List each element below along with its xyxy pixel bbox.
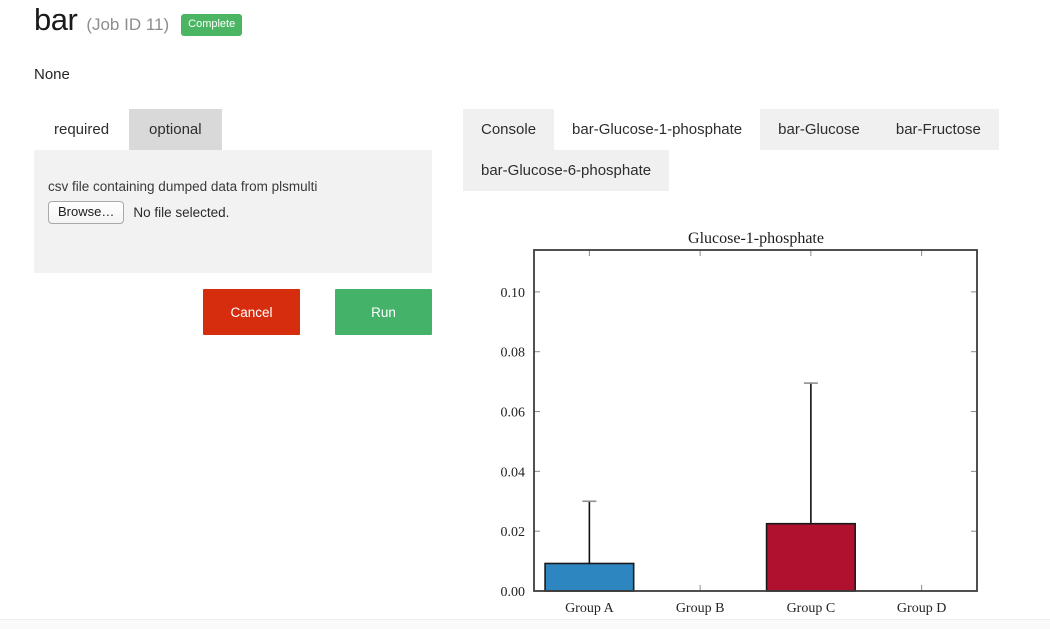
y-axis-tick-label: 0.10 <box>501 286 526 301</box>
job-description: None <box>34 66 70 83</box>
chart-bar <box>545 563 634 591</box>
results-tab-bar: Console bar-Glucose-1-phosphate bar-Gluc… <box>463 109 1040 191</box>
tab-bar-fructose[interactable]: bar-Fructose <box>878 109 999 150</box>
form-tab-bar: required optional <box>34 109 432 150</box>
tab-bar-glucose-6-phosphate[interactable]: bar-Glucose-6-phosphate <box>463 150 669 191</box>
file-input-help-text: csv file containing dumped data from pls… <box>48 179 432 194</box>
y-axis-tick-label: 0.08 <box>501 346 526 361</box>
tab-optional[interactable]: optional <box>129 109 222 150</box>
action-button-row: Cancel Run <box>34 289 432 335</box>
tab-bar-glucose-1-phosphate[interactable]: bar-Glucose-1-phosphate <box>554 109 760 150</box>
chart-frame <box>534 250 977 591</box>
y-axis-tick-label: 0.02 <box>501 525 526 540</box>
chart-bar <box>767 524 856 591</box>
job-id-label: (Job ID 11) <box>86 16 169 33</box>
run-button[interactable]: Run <box>335 289 432 335</box>
x-axis-category-label: Group D <box>897 601 946 616</box>
page-header: bar (Job ID 11) Complete <box>34 4 242 39</box>
job-parameters-panel: required optional csv file containing du… <box>34 109 432 273</box>
y-axis-tick-label: 0.00 <box>501 585 526 600</box>
y-axis-tick-label: 0.04 <box>501 465 526 480</box>
file-selection-status: No file selected. <box>133 205 229 220</box>
tab-required[interactable]: required <box>34 109 129 150</box>
y-axis-tick-label: 0.06 <box>501 406 526 421</box>
file-input-row: Browse… No file selected. <box>48 201 432 224</box>
status-badge: Complete <box>181 14 242 36</box>
chart-plot-area: 0.000.020.040.060.080.10Group AGroup BGr… <box>501 250 978 616</box>
x-axis-category-label: Group B <box>676 601 725 616</box>
form-tab-content: csv file containing dumped data from pls… <box>34 150 432 273</box>
chart-title: Glucose-1-phosphate <box>688 230 824 247</box>
page-title: bar <box>34 4 77 35</box>
x-axis-category-label: Group A <box>565 601 615 616</box>
bar-chart: Glucose-1-phosphate 0.000.020.040.060.08… <box>463 195 1043 629</box>
cancel-button[interactable]: Cancel <box>203 289 300 335</box>
tab-console[interactable]: Console <box>463 109 554 150</box>
browse-button[interactable]: Browse… <box>48 201 124 224</box>
x-axis-category-label: Group C <box>787 601 836 616</box>
chart-container: Glucose-1-phosphate 0.000.020.040.060.08… <box>463 195 1043 629</box>
page-bottom-strip <box>0 619 1050 629</box>
tab-bar-glucose[interactable]: bar-Glucose <box>760 109 878 150</box>
